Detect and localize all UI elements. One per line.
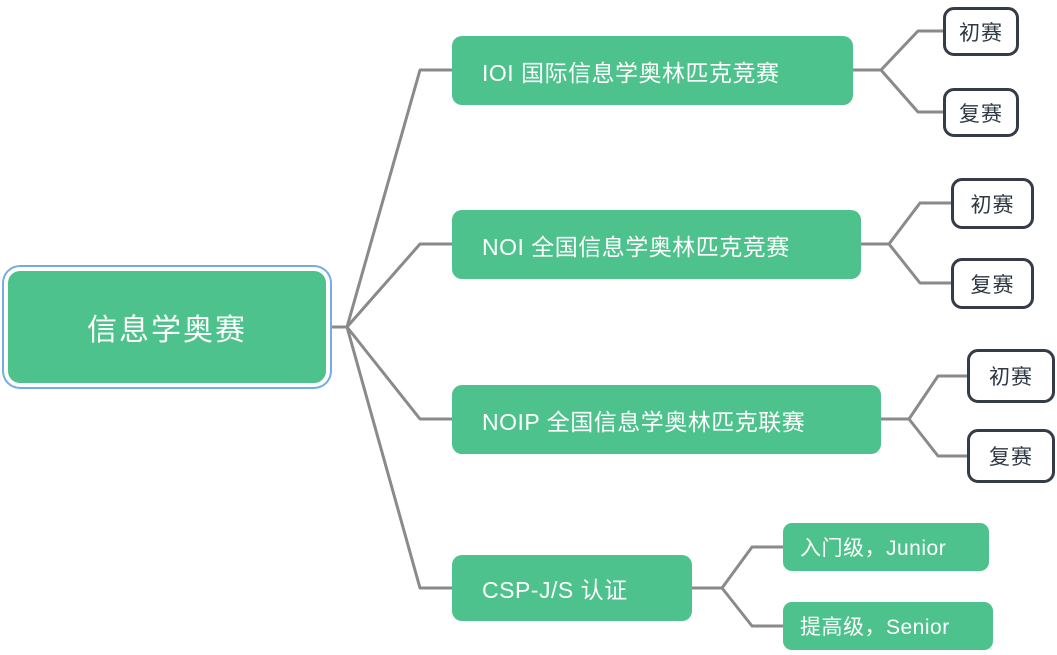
leaf-node-noi-fusai[interactable]: 复赛: [951, 258, 1034, 309]
leaf-node-csp-senior[interactable]: 提高级，Senior: [783, 602, 993, 650]
connector-ioi-to-chusai: [881, 31, 943, 70]
connector-root-to-noip: [347, 327, 452, 419]
connector-noip-to-chusai: [909, 376, 967, 419]
root-node-xinxixue-aosai[interactable]: 信息学奥赛: [8, 271, 326, 383]
connector-ioi-to-fusai: [881, 70, 943, 112]
branch-node-noi[interactable]: NOI 全国信息学奥林匹克竞赛: [452, 210, 861, 279]
connector-noi-to-chusai: [889, 203, 951, 244]
branch-node-ioi[interactable]: IOI 国际信息学奥林匹克竞赛: [452, 36, 853, 105]
leaf-node-noip-chusai[interactable]: 初赛: [967, 349, 1055, 403]
leaf-node-csp-junior[interactable]: 入门级，Junior: [783, 523, 989, 571]
branch-node-noip[interactable]: NOIP 全国信息学奥林匹克联赛: [452, 385, 881, 454]
connector-root-to-csp: [347, 327, 452, 588]
connector-root-to-noi: [347, 244, 452, 327]
leaf-node-noi-chusai[interactable]: 初赛: [951, 178, 1034, 229]
connector-root-to-ioi: [347, 70, 452, 327]
leaf-node-noip-fusai[interactable]: 复赛: [967, 429, 1055, 483]
leaf-node-ioi-chusai[interactable]: 初赛: [943, 7, 1019, 56]
connector-csp-to-junior: [722, 547, 783, 588]
branch-node-csp[interactable]: CSP-J/S 认证: [452, 555, 692, 621]
mind-map-canvas: 信息学奥赛 IOI 国际信息学奥林匹克竞赛 初赛 复赛 NOI 全国信息学奥林匹…: [0, 0, 1057, 655]
connector-noip-to-fusai: [909, 419, 967, 456]
connector-csp-to-senior: [722, 588, 783, 626]
leaf-node-ioi-fusai[interactable]: 复赛: [943, 88, 1019, 137]
connector-noi-to-fusai: [889, 244, 951, 283]
